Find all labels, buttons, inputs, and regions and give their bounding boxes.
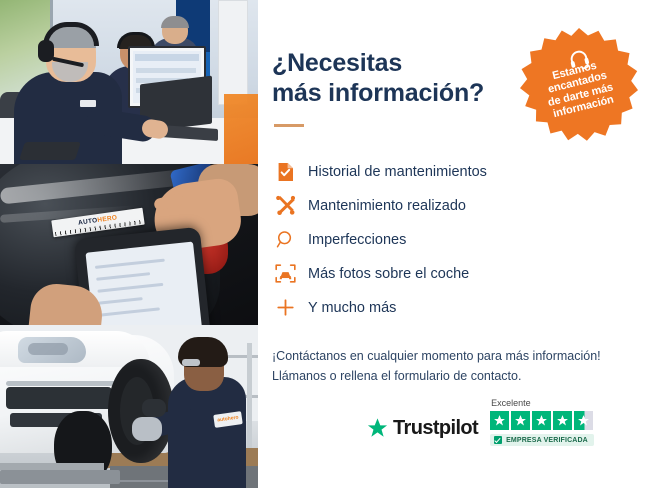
feature-item-maintenance-history: Historial de mantenimientos <box>272 155 650 188</box>
support-badge: Estamos encantados de darte más informac… <box>520 28 638 146</box>
car-headlight-inner <box>28 343 68 355</box>
feature-label: Más fotos sobre el coche <box>308 266 469 282</box>
tool-cabinet-drawer-line <box>120 480 172 482</box>
orange-equipment <box>224 94 258 164</box>
photo-column: AUTOHERO <box>0 0 258 488</box>
lift-platform <box>0 470 120 484</box>
feature-item-maintenance-done: Mantenimiento realizado <box>272 189 650 222</box>
star-filled <box>490 411 509 430</box>
wall-pipe <box>247 343 252 463</box>
wall-poster <box>218 0 248 105</box>
feature-item-more-photos: Más fotos sobre el coche <box>272 257 650 290</box>
trustpilot-logo[interactable]: Trustpilot <box>366 417 478 446</box>
trustpilot-rating-label: Excelente <box>491 398 531 408</box>
contact-line2: Llámanos o rellena el formulario de cont… <box>272 369 521 383</box>
tablet-screen-line <box>96 272 150 281</box>
page-title-line2: más información? <box>272 79 484 107</box>
mechanic-glove <box>132 417 162 441</box>
feature-list: Historial de mantenimientos Mantenimient… <box>272 155 650 324</box>
employee-name-badge <box>80 100 96 107</box>
trustpilot-brand-name: Trustpilot <box>393 417 478 440</box>
promo-card: AUTOHERO <box>0 0 650 488</box>
star-filled <box>532 411 551 430</box>
feature-label: Historial de mantenimientos <box>308 164 487 180</box>
feature-item-much-more: Y mucho más <box>272 291 650 324</box>
front-bumper-chrome-trim <box>6 381 116 386</box>
feature-label: Y mucho más <box>308 300 396 316</box>
page-title-line1: ¿Necesitas <box>272 49 402 77</box>
mechanic-glove-upper <box>142 399 166 417</box>
monitor-screen-toolbar <box>135 54 199 61</box>
trustpilot-score-block: Excelente <box>490 398 594 446</box>
tablet-screen-line <box>97 283 163 293</box>
call-center-agents-photo <box>0 0 258 164</box>
star-filled <box>553 411 572 430</box>
car-grille <box>6 387 112 409</box>
verified-business-label: EMPRESA VERIFICADA <box>506 437 588 444</box>
contact-text: ¡Contáctanos en cualquier momento para m… <box>272 346 622 387</box>
feature-label: Mantenimiento realizado <box>308 198 466 214</box>
safety-glasses-icon <box>182 359 200 366</box>
document-check-icon <box>272 161 298 183</box>
feature-item-imperfections: Imperfecciones <box>272 223 650 256</box>
magnifier-icon <box>272 229 298 251</box>
tablet-screen-line <box>99 297 143 305</box>
plus-icon <box>272 297 298 319</box>
desk-tablet <box>19 142 81 160</box>
monitor-screen-row <box>136 68 196 73</box>
feature-label: Imperfecciones <box>308 232 406 248</box>
verified-business-badge: EMPRESA VERIFICADA <box>490 434 594 446</box>
car-frame-icon <box>272 263 298 285</box>
mechanic-tire-check-photo: autohero <box>0 325 258 488</box>
trustpilot-star-icon <box>366 417 389 440</box>
tools-cross-icon <box>272 195 298 217</box>
lift-arm-upper <box>0 463 104 470</box>
tablet-screen-line <box>95 259 165 269</box>
tablet-screen-line <box>100 307 160 316</box>
contact-line1: ¡Contáctanos en cualquier momento para m… <box>272 349 601 363</box>
trustpilot-stars <box>490 411 593 430</box>
ruler-brand-auto: AUTO <box>78 217 98 227</box>
tablet-screen <box>85 242 203 325</box>
content-panel: ¿Necesitas más información? Estamos enca… <box>258 0 650 488</box>
title-divider <box>274 124 304 127</box>
car-inspection-ruler-photo: AUTOHERO <box>0 164 258 325</box>
star-filled <box>511 411 530 430</box>
star-half <box>574 411 593 430</box>
mechanic-body <box>168 377 246 488</box>
trustpilot-rating[interactable]: Trustpilot Excelente <box>366 398 594 446</box>
verified-check-icon <box>494 436 502 444</box>
page-title: ¿Necesitas más información? <box>272 48 502 108</box>
